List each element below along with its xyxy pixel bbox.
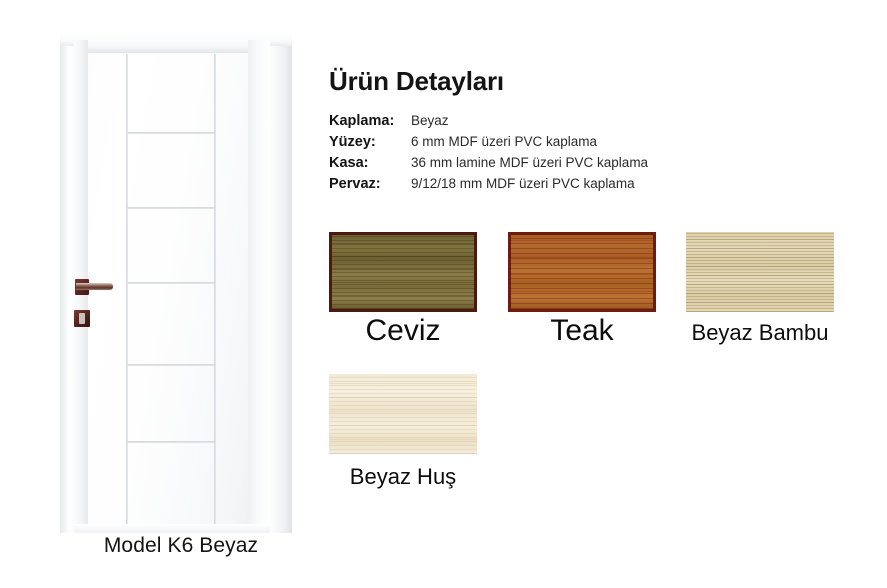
finish-swatch-beyaz-hus[interactable]: Beyaz Huş <box>329 374 477 490</box>
door-groove-vertical-left <box>126 54 128 533</box>
door-handle-lever-icon <box>76 283 113 290</box>
door-bottom-edge <box>74 524 270 533</box>
door-groove-horizontal-5 <box>126 441 216 443</box>
spec-label-yuzey: Yüzey: <box>329 134 411 150</box>
spec-label-kaplama: Kaplama: <box>329 113 411 129</box>
finish-chip-ceviz[interactable] <box>329 232 477 312</box>
wood-grain-texture-beyaz-hus <box>329 374 477 454</box>
wood-grain-texture-beyaz-bambu <box>686 232 834 312</box>
details-heading: Ürün Detayları <box>329 66 869 97</box>
spec-row-pervaz: Pervaz: 9/12/18 mm MDF üzeri PVC kaplama <box>329 176 869 197</box>
wood-grain-texture-teak <box>508 232 656 312</box>
wood-grain-texture-ceviz <box>329 232 477 312</box>
finish-label-beyaz-hus: Beyaz Huş <box>329 464 477 490</box>
door-groove-horizontal-3 <box>126 282 216 284</box>
door-groove-horizontal-4 <box>126 364 216 366</box>
finish-label-beyaz-bambu: Beyaz Bambu <box>686 320 834 346</box>
product-details-panel: Ürün Detayları Kaplama: Beyaz Yüzey: 6 m… <box>329 66 869 197</box>
spec-value-yuzey: 6 mm MDF üzeri PVC kaplama <box>411 134 597 149</box>
finish-label-ceviz: Ceviz <box>329 314 477 348</box>
spec-value-kasa: 36 mm lamine MDF üzeri PVC kaplama <box>411 155 648 170</box>
finish-swatch-ceviz[interactable]: Ceviz <box>329 232 477 348</box>
spec-value-kaplama: Beyaz <box>411 113 449 128</box>
door-model-caption: Model K6 Beyaz <box>52 534 310 558</box>
finish-chip-teak[interactable] <box>508 232 656 312</box>
finish-swatch-teak[interactable]: Teak <box>508 232 656 348</box>
spec-label-pervaz: Pervaz: <box>329 176 411 192</box>
finish-chip-beyaz-bambu[interactable] <box>686 232 834 312</box>
door-groove-horizontal-2 <box>126 207 216 209</box>
spec-row-yuzey: Yüzey: 6 mm MDF üzeri PVC kaplama <box>329 134 869 155</box>
spec-row-kasa: Kasa: 36 mm lamine MDF üzeri PVC kaplama <box>329 155 869 176</box>
spec-value-pervaz: 9/12/18 mm MDF üzeri PVC kaplama <box>411 176 635 191</box>
finish-label-teak: Teak <box>508 314 656 348</box>
door-leaf <box>88 54 248 533</box>
door-frame-right <box>248 40 270 533</box>
door-frame-head <box>74 40 270 53</box>
spec-label-kasa: Kasa: <box>329 155 411 171</box>
product-door-image <box>52 28 310 533</box>
finish-swatch-beyaz-bambu[interactable]: Beyaz Bambu <box>686 232 834 346</box>
finish-chip-beyaz-hus[interactable] <box>329 374 477 454</box>
door-groove-vertical-right <box>214 54 216 533</box>
spec-row-kaplama: Kaplama: Beyaz <box>329 113 869 134</box>
door-groove-horizontal-1 <box>126 132 216 134</box>
door-lock-keyhole-icon <box>74 310 90 327</box>
